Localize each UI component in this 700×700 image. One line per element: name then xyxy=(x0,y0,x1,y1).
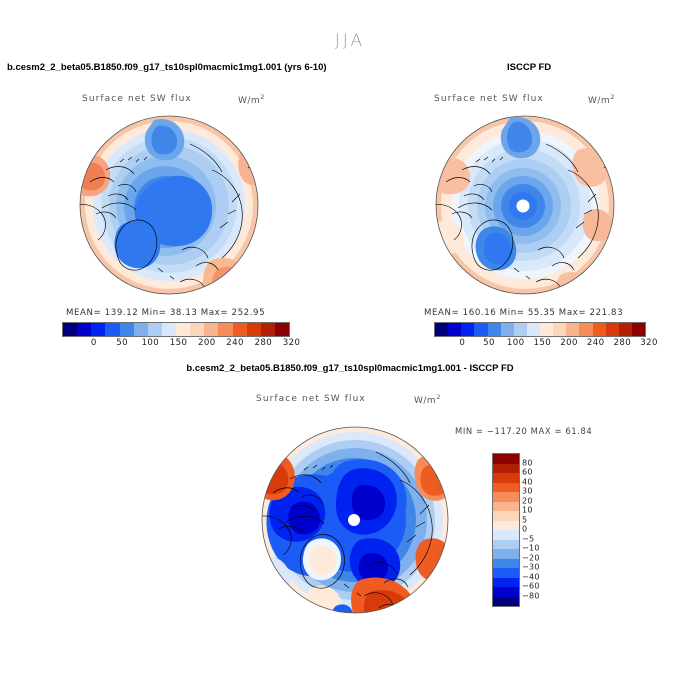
diff-colorbar[interactable] xyxy=(492,453,520,607)
obs-colorbar[interactable] xyxy=(434,322,646,337)
colorbar-tick: 60 xyxy=(522,468,533,477)
model-polar-map xyxy=(62,110,277,300)
colorbar-tick: 0 xyxy=(459,338,465,348)
diff-panel-header: b.cesm2_2_beta05.B1850.f09_g17_ts10spl0m… xyxy=(0,363,700,374)
colorbar-tick: 150 xyxy=(534,338,552,348)
colorbar-cell xyxy=(493,549,519,559)
obs-map-variable-label: Surface net SW flux xyxy=(434,94,544,104)
colorbar-cell xyxy=(493,568,519,578)
colorbar-cell xyxy=(63,323,77,336)
model-map-variable-label: Surface net SW flux xyxy=(82,94,192,104)
model-map-units: W/m2 xyxy=(238,93,265,106)
colorbar-cell xyxy=(493,464,519,474)
colorbar-tick: 200 xyxy=(560,338,578,348)
colorbar-cell xyxy=(493,473,519,483)
diff-colorbar-ticks: 80 60 40 30 20 10 5 0 −5 −10 −20 −30 −40… xyxy=(522,453,562,605)
colorbar-cell xyxy=(632,323,645,336)
model-stats: MEAN= 139.12 Min= 38.13 Max= 252.95 xyxy=(66,308,265,318)
colorbar-tick: −10 xyxy=(522,544,540,553)
colorbar-cell xyxy=(435,323,448,336)
diff-minmax-label: MIN = −117.20 MAX = 61.84 xyxy=(455,426,592,436)
colorbar-tick: 30 xyxy=(522,487,533,496)
colorbar-cell xyxy=(493,454,519,464)
colorbar-cell xyxy=(461,323,474,336)
colorbar-tick: −20 xyxy=(522,553,540,562)
colorbar-cell xyxy=(105,323,119,336)
colorbar-tick: 5 xyxy=(522,515,527,524)
colorbar-tick: −40 xyxy=(522,572,540,581)
colorbar-cell xyxy=(218,323,232,336)
colorbar-tick: −5 xyxy=(522,534,534,543)
colorbar-tick: 100 xyxy=(507,338,525,348)
colorbar-tick: 150 xyxy=(170,338,188,348)
colorbar-tick: 280 xyxy=(614,338,632,348)
colorbar-cell xyxy=(493,559,519,569)
colorbar-cell xyxy=(204,323,218,336)
diff-pole-missing-data xyxy=(348,514,360,526)
obs-colorbar-ticks: 0 50 100 150 200 240 280 320 xyxy=(434,338,644,352)
colorbar-cell xyxy=(190,323,204,336)
colorbar-cell xyxy=(148,323,162,336)
colorbar-cell xyxy=(493,540,519,550)
colorbar-tick: 100 xyxy=(142,338,160,348)
colorbar-cell xyxy=(176,323,190,336)
colorbar-tick: 320 xyxy=(640,338,658,348)
diff-map-variable-label: Surface net SW flux xyxy=(256,394,366,404)
colorbar-tick: 20 xyxy=(522,496,533,505)
colorbar-cell xyxy=(553,323,566,336)
colorbar-tick: 40 xyxy=(522,477,533,486)
colorbar-tick: −30 xyxy=(522,563,540,572)
colorbar-cell xyxy=(593,323,606,336)
colorbar-cell xyxy=(493,511,519,521)
colorbar-cell xyxy=(134,323,148,336)
colorbar-tick: 10 xyxy=(522,506,533,515)
model-colorbar-ticks: 0 50 100 150 200 240 280 320 xyxy=(62,338,288,352)
colorbar-tick: 320 xyxy=(283,338,301,348)
colorbar-tick: −80 xyxy=(522,591,540,600)
colorbar-cell xyxy=(233,323,247,336)
colorbar-cell xyxy=(493,492,519,502)
season-title: JJA xyxy=(0,31,700,51)
colorbar-tick: 280 xyxy=(255,338,273,348)
colorbar-cell xyxy=(162,323,176,336)
colorbar-cell xyxy=(501,323,514,336)
colorbar-cell xyxy=(91,323,105,336)
units-exponent: 2 xyxy=(436,393,441,401)
units-exponent: 2 xyxy=(260,93,265,101)
colorbar-cell xyxy=(493,483,519,493)
colorbar-cell xyxy=(493,578,519,588)
colorbar-tick: 80 xyxy=(522,458,533,467)
colorbar-cell xyxy=(619,323,632,336)
colorbar-cell xyxy=(579,323,592,336)
colorbar-cell xyxy=(606,323,619,336)
diff-polar-map xyxy=(248,420,463,620)
colorbar-cell xyxy=(493,587,519,597)
model-panel-header: b.cesm2_2_beta05.B1850.f09_g17_ts10spl0m… xyxy=(7,62,327,73)
colorbar-cell xyxy=(247,323,261,336)
model-map-svg xyxy=(62,110,277,300)
obs-polar-map xyxy=(418,110,633,300)
colorbar-cell xyxy=(566,323,579,336)
units-text: W/m xyxy=(414,396,436,406)
obs-stats: MEAN= 160.16 Min= 55.35 Max= 221.83 xyxy=(424,308,623,318)
colorbar-cell xyxy=(493,502,519,512)
colorbar-tick: 0 xyxy=(91,338,97,348)
units-text: W/m xyxy=(588,96,610,106)
colorbar-tick: −60 xyxy=(522,582,540,591)
colorbar-tick: 0 xyxy=(522,525,527,534)
colorbar-cell xyxy=(493,597,519,607)
model-map-field xyxy=(62,110,277,300)
diff-map-units: W/m2 xyxy=(414,393,441,406)
obs-pole-missing-data xyxy=(517,200,530,213)
colorbar-tick: 50 xyxy=(116,338,128,348)
colorbar-cell xyxy=(275,323,289,336)
obs-map-units: W/m2 xyxy=(588,93,615,106)
colorbar-cell xyxy=(77,323,91,336)
units-exponent: 2 xyxy=(610,93,615,101)
units-text: W/m xyxy=(238,96,260,106)
colorbar-cell xyxy=(540,323,553,336)
colorbar-cell xyxy=(488,323,501,336)
colorbar-tick: 240 xyxy=(226,338,244,348)
model-colorbar[interactable] xyxy=(62,322,290,337)
obs-map-svg xyxy=(418,110,633,300)
colorbar-cell xyxy=(120,323,134,336)
colorbar-cell xyxy=(474,323,487,336)
obs-panel-header: ISCCP FD xyxy=(507,62,551,73)
colorbar-tick: 50 xyxy=(483,338,495,348)
colorbar-cell xyxy=(514,323,527,336)
diff-map-svg xyxy=(248,420,463,620)
colorbar-tick: 200 xyxy=(198,338,216,348)
colorbar-cell xyxy=(527,323,540,336)
colorbar-cell xyxy=(493,521,519,531)
colorbar-tick: 240 xyxy=(587,338,605,348)
colorbar-cell xyxy=(493,530,519,540)
colorbar-cell xyxy=(448,323,461,336)
colorbar-cell xyxy=(261,323,275,336)
